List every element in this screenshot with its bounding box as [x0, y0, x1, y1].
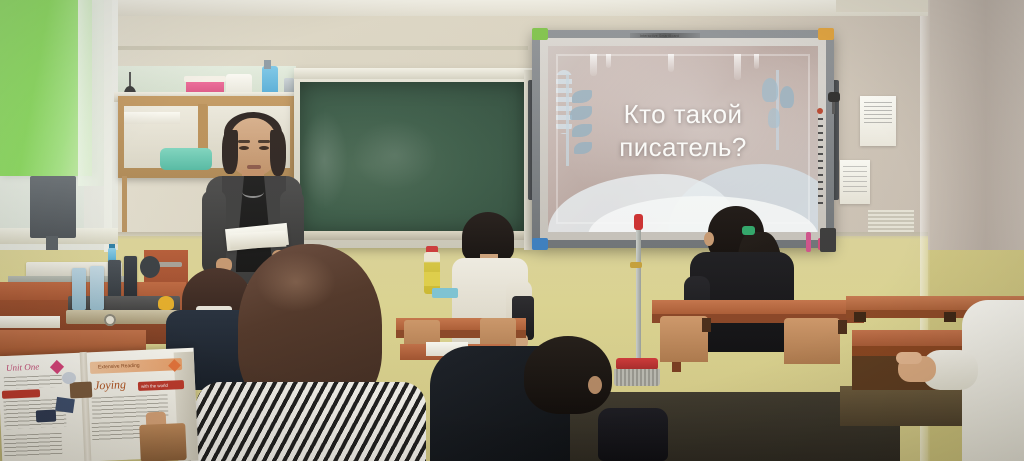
- textbook-illustration: [55, 397, 75, 413]
- textbook-illustration: [36, 410, 57, 423]
- wall-notice-text: [843, 166, 867, 196]
- camera-arm: [832, 100, 835, 114]
- ceiling-beam: [836, 0, 928, 12]
- teacher-eyebrow: [238, 140, 250, 143]
- dock-knob[interactable]: [140, 256, 160, 278]
- dock-dial-icon[interactable]: [104, 314, 116, 326]
- chalk-smudge: [300, 110, 348, 210]
- broom-bristles: [614, 369, 660, 386]
- student-head: [524, 336, 612, 414]
- desk-slot: [854, 312, 866, 322]
- right-wall-column: [928, 0, 1024, 262]
- ceiling: [112, 0, 928, 16]
- green-hair-tie: [742, 226, 755, 235]
- smartboard-brand-label: Interactive SmartBoard: [640, 33, 702, 39]
- backpack: [598, 408, 668, 461]
- wall-pipe: [112, 46, 528, 50]
- chair-slot: [838, 320, 847, 334]
- slide-title-line1: Кто такой: [548, 98, 818, 131]
- chalkboard-top-rail: [294, 68, 532, 79]
- phone-device: [90, 266, 104, 310]
- student-ear: [704, 232, 714, 246]
- teacher-mouth: [247, 165, 261, 169]
- smartboard-corner-marker: [532, 28, 548, 40]
- textbook-unit-label: Unit One: [6, 361, 50, 375]
- phone-device: [72, 268, 86, 310]
- textbook-text-block: [4, 375, 62, 390]
- curtain-fold: [78, 0, 104, 186]
- chair-slot: [702, 318, 711, 332]
- wall-vent: [868, 210, 914, 232]
- wall-notice-text: [864, 102, 892, 126]
- shelf-leg: [122, 176, 127, 232]
- teacher-hair-side: [222, 130, 238, 174]
- chalk-smudge-secondary: [352, 120, 438, 190]
- slide-title-line2: писатель?: [548, 131, 818, 164]
- spray-nozzle: [264, 60, 271, 69]
- broom-grip: [634, 214, 643, 230]
- broom-handle[interactable]: [636, 218, 641, 366]
- slide-title: Кто такой писатель?: [548, 98, 818, 164]
- shelf-papers: [124, 112, 180, 124]
- textbook-text-block: [92, 421, 141, 441]
- textbook-illustration: [139, 423, 187, 461]
- textbook-illustration: [70, 382, 93, 399]
- camera-icon: [828, 92, 840, 102]
- paper-stack: [0, 316, 60, 328]
- textbook-tag: [2, 389, 40, 399]
- smartboard-corner-marker: [532, 238, 548, 250]
- classroom-photo: Кто такой писатель? Interactive SmartBoa…: [0, 0, 1024, 461]
- desk-item-blue: [432, 288, 458, 298]
- teacher-papers-second: [230, 231, 287, 250]
- student-ear: [588, 376, 602, 394]
- smartboard-corner-marker: [818, 28, 834, 40]
- textbook-article-subtitle: with the world: [141, 380, 183, 391]
- wall-speaker: [820, 228, 836, 252]
- teacher-eye: [239, 146, 249, 150]
- chair-back: [660, 316, 708, 362]
- teacher-eye: [259, 146, 269, 150]
- storage-box-lid: [184, 76, 226, 82]
- teacher-necklace: [242, 186, 264, 198]
- teacher-eyebrow: [258, 140, 270, 143]
- student-fingers: [896, 352, 922, 364]
- marker-pen[interactable]: [806, 232, 811, 252]
- broom-clip: [630, 262, 642, 268]
- monitor-stand: [46, 236, 58, 250]
- desk-slot: [944, 312, 956, 322]
- student-striped-shirt-body: [196, 382, 426, 461]
- yellow-ornament: [158, 296, 174, 310]
- window-frame: [104, 0, 112, 252]
- juice-bottle-label: [424, 272, 440, 286]
- textbook-text-block: [4, 433, 63, 458]
- hair-highlight: [256, 252, 336, 312]
- computer-monitor: [30, 176, 76, 238]
- chair-back: [784, 318, 840, 364]
- dock-rod: [158, 262, 182, 267]
- power-led-icon: [817, 108, 823, 114]
- presentation-slide: Кто такой писатель?: [548, 46, 818, 232]
- teal-cloth: [160, 148, 212, 170]
- smartboard-button-strip[interactable]: [818, 118, 823, 204]
- teacher-hair-side: [270, 130, 286, 176]
